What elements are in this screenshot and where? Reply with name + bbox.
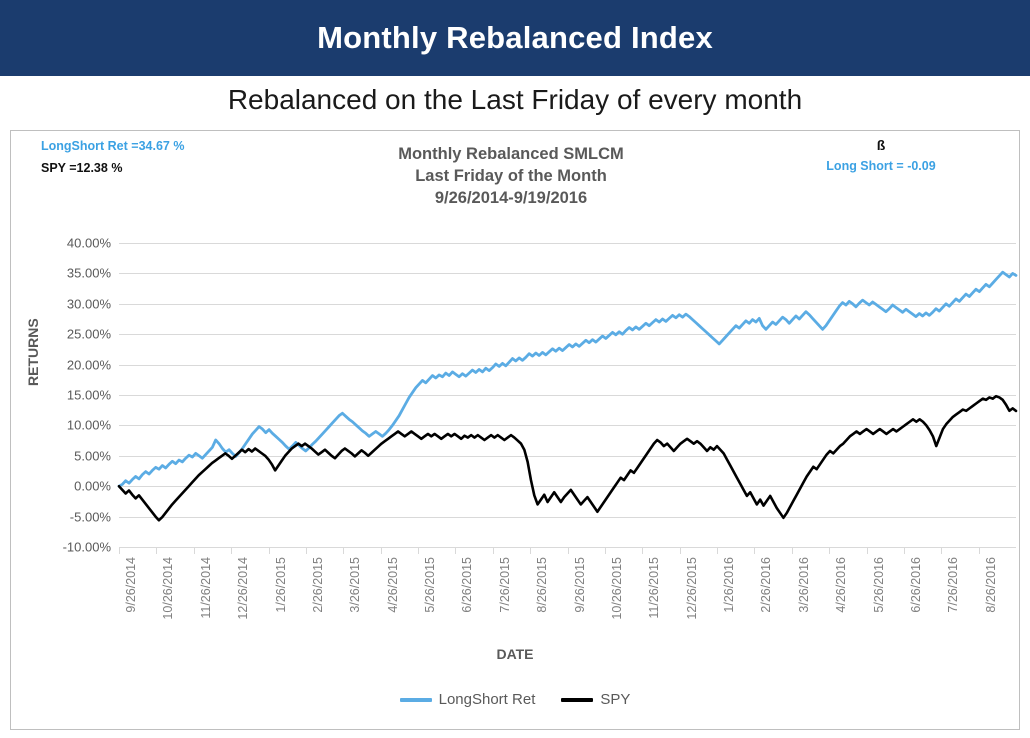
header-banner: Monthly Rebalanced Index — [0, 0, 1030, 76]
x-axis-tick-label: 2/26/2016 — [759, 557, 773, 613]
x-axis-tick — [979, 547, 980, 554]
x-axis-tick-label: 5/26/2015 — [423, 557, 437, 613]
x-axis-tick-label: 12/26/2014 — [236, 557, 250, 620]
x-axis-tick — [381, 547, 382, 554]
legend-item-spy: SPY — [561, 691, 630, 708]
x-axis-tick-label: 4/26/2016 — [834, 557, 848, 613]
y-axis-tick-label: 5.00% — [74, 448, 111, 463]
x-axis-tick-label: 4/26/2015 — [386, 557, 400, 613]
x-axis-tick-label: 5/26/2016 — [872, 557, 886, 613]
y-axis-tick-label: 20.00% — [67, 357, 111, 372]
x-axis-tick-label: 10/26/2015 — [610, 557, 624, 620]
y-axis-tick-label: 30.00% — [67, 296, 111, 311]
x-axis-tick-label: 7/26/2015 — [498, 557, 512, 613]
y-axis-tick-label: 10.00% — [67, 418, 111, 433]
x-axis-tick-label: 10/26/2014 — [161, 557, 175, 620]
legend-swatch-longshort — [400, 698, 432, 702]
annotation-spy-return: SPY =12.38 % — [41, 161, 122, 175]
x-axis-tick — [306, 547, 307, 554]
x-axis-tick-label: 7/26/2016 — [946, 557, 960, 613]
x-axis-tick — [194, 547, 195, 554]
annotation-beta-value: Long Short = -0.09 — [801, 159, 961, 173]
y-axis-tick-label: 0.00% — [74, 479, 111, 494]
x-axis-tick — [530, 547, 531, 554]
x-axis-tick-label: 9/26/2014 — [124, 557, 138, 613]
chart-container: LongShort Ret =34.67 % SPY =12.38 % ß Lo… — [10, 130, 1020, 730]
chart-legend: LongShort Ret SPY — [11, 691, 1019, 708]
x-axis-tick-label: 8/26/2015 — [535, 557, 549, 613]
chart-title-line-2: Last Friday of the Month — [261, 165, 761, 187]
x-axis-tick — [680, 547, 681, 554]
x-axis-tick — [829, 547, 830, 554]
x-axis-tick-label: 1/26/2015 — [274, 557, 288, 613]
annotation-beta-symbol: ß — [801, 137, 961, 153]
page-subtitle: Rebalanced on the Last Friday of every m… — [0, 84, 1030, 116]
legend-swatch-spy — [561, 698, 593, 702]
chart-title-line-3: 9/26/2014-9/19/2016 — [261, 187, 761, 209]
chart-title-line-1: Monthly Rebalanced SMLCM — [261, 143, 761, 165]
x-axis-tick-label: 6/26/2015 — [460, 557, 474, 613]
legend-label-spy: SPY — [600, 691, 630, 708]
x-axis-tick — [568, 547, 569, 554]
x-axis-tick — [904, 547, 905, 554]
x-axis-tick-label: 1/26/2016 — [722, 557, 736, 613]
annotation-longshort-return: LongShort Ret =34.67 % — [41, 139, 184, 153]
y-axis-tick-label: -5.00% — [70, 509, 111, 524]
x-axis-tick — [269, 547, 270, 554]
x-axis-tick-label: 8/26/2016 — [984, 557, 998, 613]
x-axis-tick — [455, 547, 456, 554]
x-axis-tick — [867, 547, 868, 554]
y-axis-tick-label: -10.00% — [63, 540, 111, 555]
series-line-spy — [119, 396, 1016, 520]
series-line-longshort-ret — [119, 272, 1016, 486]
x-axis-tick — [156, 547, 157, 554]
x-axis-tick — [754, 547, 755, 554]
x-axis-tick — [343, 547, 344, 554]
x-axis-tick-label: 9/26/2015 — [573, 557, 587, 613]
x-axis-tick — [493, 547, 494, 554]
page-title: Monthly Rebalanced Index — [317, 20, 713, 56]
y-axis-tick-label: 15.00% — [67, 388, 111, 403]
x-axis-tick-label: 3/26/2016 — [797, 557, 811, 613]
series-lines — [119, 243, 1016, 547]
x-axis-tick — [941, 547, 942, 554]
x-axis-tick-label: 3/26/2015 — [348, 557, 362, 613]
x-axis-tick-label: 6/26/2016 — [909, 557, 923, 613]
x-axis-title: DATE — [11, 646, 1019, 662]
x-axis-tick — [605, 547, 606, 554]
x-axis-tick — [119, 547, 120, 554]
plot-area: 40.00%35.00%30.00%25.00%20.00%15.00%10.0… — [119, 243, 1016, 547]
y-axis-tick-label: 35.00% — [67, 266, 111, 281]
y-axis-title: RETURNS — [25, 318, 41, 386]
chart-title: Monthly Rebalanced SMLCM Last Friday of … — [261, 143, 761, 209]
legend-item-longshort: LongShort Ret — [400, 691, 536, 708]
y-axis-tick-label: 40.00% — [67, 236, 111, 251]
x-axis-tick-label: 11/26/2015 — [647, 557, 661, 619]
x-axis-tick — [642, 547, 643, 554]
x-axis-tick — [418, 547, 419, 554]
x-axis-tick — [792, 547, 793, 554]
x-axis-tick-label: 2/26/2015 — [311, 557, 325, 613]
x-axis-tick — [717, 547, 718, 554]
legend-label-longshort: LongShort Ret — [439, 691, 536, 708]
y-axis-tick-label: 25.00% — [67, 327, 111, 342]
x-axis-tick-label: 11/26/2014 — [199, 557, 213, 619]
x-axis-tick-label: 12/26/2015 — [685, 557, 699, 620]
x-axis-tick — [231, 547, 232, 554]
